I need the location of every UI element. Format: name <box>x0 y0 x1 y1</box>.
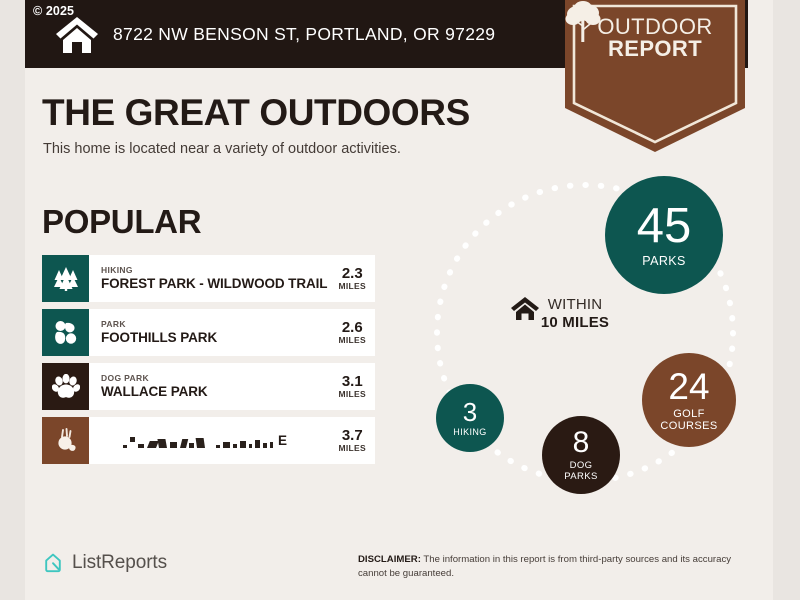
stat-value: 8 <box>573 428 590 458</box>
list-item-meta: DOG PARK WALLACE PARK <box>89 363 335 410</box>
listreports-logo-text: ListReports <box>72 552 167 574</box>
stat-label-line-1: DOG <box>570 460 593 471</box>
list-item-category: DOG PARK <box>101 373 335 384</box>
tree-icon <box>565 0 601 42</box>
list-item-name: WALLACE PARK <box>101 384 335 400</box>
page-title: THE GREAT OUTDOORS <box>42 92 470 134</box>
center-line-2: 10 MILES <box>541 314 609 331</box>
listreports-house-icon <box>42 552 64 574</box>
stat-label-line-1: GOLF <box>673 408 705 420</box>
list-item-distance: 2.3 MILES <box>335 255 375 302</box>
disclaimer-label: DISCLAIMER: <box>358 554 421 565</box>
stat-label: HIKING <box>453 428 486 437</box>
list-item-distance: 3.1 MILES <box>335 363 375 410</box>
home-icon <box>510 296 540 321</box>
report-page: © 2025 8722 NW BENSON ST, PORTLAND, OR 9… <box>0 0 800 600</box>
stat-label: PARKS <box>642 255 685 268</box>
stat-label-line-2: COURSES <box>660 420 717 432</box>
list-item-category: HIKING <box>101 265 335 276</box>
outdoor-report-badge: OUTDOOR REPORT <box>565 0 745 152</box>
list-item[interactable]: E 3.7 MILES <box>42 417 375 464</box>
page-subtitle: This home is located near a variety of o… <box>43 141 401 157</box>
list-item-name: FOREST PARK - WILDWOOD TRAIL <box>101 276 335 292</box>
home-icon <box>55 16 99 54</box>
list-item-meta: E <box>89 417 335 464</box>
distance-unit: MILES <box>339 443 366 453</box>
stat-bubble-golf-courses[interactable]: 24 GOLF COURSES <box>642 353 736 447</box>
list-item-name-garbled: E <box>101 434 335 448</box>
distance-unit: MILES <box>339 389 366 399</box>
stat-value: 3 <box>463 399 477 425</box>
list-item[interactable]: HIKING FOREST PARK - WILDWOOD TRAIL 2.3 … <box>42 255 375 302</box>
stat-value: 45 <box>637 202 692 251</box>
list-item[interactable]: DOG PARK WALLACE PARK 3.1 MILES <box>42 363 375 410</box>
list-item-distance: 2.6 MILES <box>335 309 375 356</box>
listreports-logo[interactable]: ListReports <box>42 552 167 574</box>
list-item-meta: HIKING FOREST PARK - WILDWOOD TRAIL <box>89 255 335 302</box>
stat-bubble-parks[interactable]: 45 PARKS <box>605 176 723 294</box>
distance-value: 2.6 <box>342 320 363 336</box>
stat-label: DOG PARKS <box>564 461 598 483</box>
paw-icon <box>42 363 89 410</box>
list-item[interactable]: PARK FOOTHILLS PARK 2.6 MILES <box>42 309 375 356</box>
list-item-name: FOOTHILLS PARK <box>101 330 335 346</box>
distance-unit: MILES <box>339 281 366 291</box>
diagram-center-label: WITHIN 10 MILES <box>510 296 640 332</box>
list-item-category: PARK <box>101 319 335 330</box>
popular-list: HIKING FOREST PARK - WILDWOOD TRAIL 2.3 … <box>42 255 375 471</box>
park-icon <box>42 309 89 356</box>
trees-icon <box>42 255 89 302</box>
stat-bubble-hiking[interactable]: 3 HIKING <box>436 384 504 452</box>
stat-label-line-2: PARKS <box>564 471 598 482</box>
distance-value: 2.3 <box>342 266 363 282</box>
stat-value: 24 <box>668 368 709 405</box>
property-address: 8722 NW BENSON ST, PORTLAND, OR 97229 <box>113 24 495 45</box>
center-line-1: WITHIN <box>548 296 603 313</box>
list-item-distance: 3.7 MILES <box>335 417 375 464</box>
within-10-miles-diagram: 45 PARKS 24 GOLF COURSES 8 DOG PARKS 3 H… <box>420 168 760 518</box>
distance-value: 3.7 <box>342 428 363 444</box>
list-item-name: E <box>278 434 287 448</box>
distance-value: 3.1 <box>342 374 363 390</box>
stat-label: GOLF COURSES <box>660 408 717 433</box>
disclaimer: DISCLAIMER: The information in this repo… <box>358 553 753 581</box>
distance-unit: MILES <box>339 335 366 345</box>
golf-icon <box>42 417 89 464</box>
list-item-meta: PARK FOOTHILLS PARK <box>89 309 335 356</box>
popular-heading: POPULAR <box>42 203 201 241</box>
stat-bubble-dog-parks[interactable]: 8 DOG PARKS <box>542 416 620 494</box>
